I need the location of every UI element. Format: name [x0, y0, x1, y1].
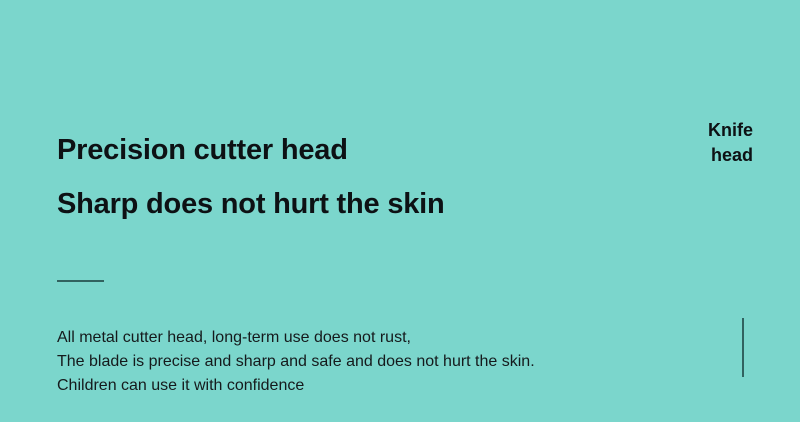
body-copy-line: All metal cutter head, long-term use doe… — [57, 326, 535, 350]
product-feature-banner: Precision cutter head Sharp does not hur… — [0, 0, 800, 422]
body-copy-line: The blade is precise and sharp and safe … — [57, 350, 535, 374]
headline-primary: Precision cutter head — [57, 131, 445, 170]
headline-group: Precision cutter head Sharp does not hur… — [57, 131, 445, 224]
body-copy-line: Children can use it with confidence — [57, 374, 535, 398]
knife-head-label: Knife head — [695, 118, 753, 168]
divider-dash — [57, 280, 104, 282]
body-copy: All metal cutter head, long-term use doe… — [57, 326, 535, 398]
divider-vertical — [742, 318, 744, 377]
headline-secondary: Sharp does not hurt the skin — [57, 185, 445, 224]
